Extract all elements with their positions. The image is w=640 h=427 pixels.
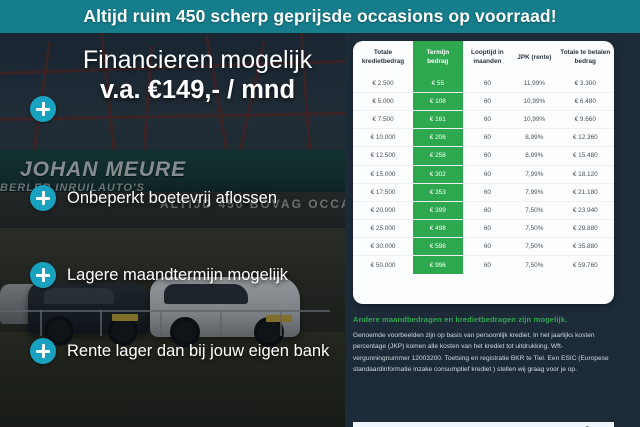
headline-line1: Financieren mogelijk: [60, 45, 335, 75]
plus-icon: [30, 262, 56, 288]
cell-looptijd: 60: [463, 220, 513, 238]
plus-icon: [30, 185, 56, 211]
list-item-label: Onbeperkt boetevrij aflossen: [67, 189, 277, 208]
cell-termijn: € 598: [413, 238, 463, 256]
table-row: € 30.000€ 598607,50%€ 35.880: [353, 238, 614, 256]
cell-termijn: € 108: [413, 92, 463, 110]
advertisement-banner: JOHAN MEURE BERLER INRUILAUTO'S ALTIJD 4…: [0, 0, 640, 427]
table-row: € 7.500€ 1616010,99%€ 9.660: [353, 110, 614, 128]
cell-jkp: 8,99%: [512, 129, 556, 147]
left-content: Financieren mogelijk v.a. €149,- / mnd O…: [0, 33, 345, 427]
cell-looptijd: 60: [463, 110, 513, 128]
cell-looptijd: 60: [463, 165, 513, 183]
list-item-label: Lagere maandtermijn mogelijk: [67, 266, 288, 285]
cell-termijn: € 258: [413, 147, 463, 165]
cell-totaal: € 23.940: [557, 201, 614, 219]
cell-totaal: € 9.660: [557, 110, 614, 128]
table-row: € 10.000€ 206608,99%€ 12.360: [353, 129, 614, 147]
banner-headline: Altijd ruim 450 scherp geprijsde occasio…: [83, 6, 556, 27]
list-item-rente-lager: Rente lager dan bij jouw eigen bank: [30, 338, 329, 364]
table-row: € 15.000€ 302607,99%€ 18.120: [353, 165, 614, 183]
rates-table: Totale kredietbedrag Termijn bedrag Loop…: [353, 41, 614, 274]
table-row: € 20.000€ 399607,50%€ 23.940: [353, 201, 614, 219]
cell-termijn: € 353: [413, 183, 463, 201]
cell-krediet: € 17.500: [353, 183, 413, 201]
cell-krediet: € 25.000: [353, 220, 413, 238]
cell-krediet: € 12.500: [353, 147, 413, 165]
cell-jkp: 7,50%: [512, 201, 556, 219]
table-body: € 2.500€ 556011,99%€ 3.300€ 5.000€ 10860…: [353, 75, 614, 274]
cell-jkp: 11,99%: [512, 75, 556, 93]
top-banner: Altijd ruim 450 scherp geprijsde occasio…: [0, 0, 640, 33]
page-title: Financieren mogelijk v.a. €149,- / mnd: [60, 45, 335, 106]
plus-icon: [30, 96, 56, 122]
cell-looptijd: 60: [463, 238, 513, 256]
column-header-looptijd: Looptijd in maanden: [463, 41, 513, 75]
column-header-jkp: JPK (rente): [512, 41, 556, 75]
cell-totaal: € 29.880: [557, 220, 614, 238]
cell-looptijd: 60: [463, 256, 513, 274]
cell-termijn: € 399: [413, 201, 463, 219]
disclaimer-block: Andere maandbedragen en kredietbedragen …: [353, 315, 614, 375]
cell-looptijd: 60: [463, 92, 513, 110]
cell-krediet: € 15.000: [353, 165, 413, 183]
right-panel: Totale kredietbedrag Termijn bedrag Loop…: [345, 33, 622, 427]
column-header-totaal: Totale te betalen bedrag: [557, 41, 614, 75]
cell-totaal: € 35.880: [557, 238, 614, 256]
cell-krediet: € 2.500: [353, 75, 413, 93]
credit-warning-bar: Let op! Geld lenen kost geld: [353, 422, 614, 427]
cell-krediet: € 30.000: [353, 238, 413, 256]
table-header-row: Totale kredietbedrag Termijn bedrag Loop…: [353, 41, 614, 75]
cell-looptijd: 60: [463, 201, 513, 219]
table-row: € 12.500€ 258608,99%€ 15.480: [353, 147, 614, 165]
cell-termijn: € 302: [413, 165, 463, 183]
table-row: € 17.500€ 353607,99%€ 21.180: [353, 183, 614, 201]
column-header-termijn: Termijn bedrag: [413, 41, 463, 75]
cell-totaal: € 6.480: [557, 92, 614, 110]
column-header-krediet: Totale kredietbedrag: [353, 41, 413, 75]
cell-totaal: € 59.760: [557, 256, 614, 274]
cell-krediet: € 20.000: [353, 201, 413, 219]
rates-table-card: Totale kredietbedrag Termijn bedrag Loop…: [353, 41, 614, 304]
cell-termijn: € 498: [413, 220, 463, 238]
disclaimer-title: Andere maandbedragen en kredietbedragen …: [353, 315, 614, 324]
cell-krediet: € 7.500: [353, 110, 413, 128]
cell-jkp: 7,50%: [512, 238, 556, 256]
cell-looptijd: 60: [463, 147, 513, 165]
cell-krediet: € 10.000: [353, 129, 413, 147]
cell-termijn: € 996: [413, 256, 463, 274]
cell-termijn: € 55: [413, 75, 463, 93]
table-row: € 5.000€ 1086010,99%€ 6.480: [353, 92, 614, 110]
cell-jkp: 10,99%: [512, 110, 556, 128]
cell-looptijd: 60: [463, 183, 513, 201]
cell-jkp: 7,50%: [512, 256, 556, 274]
cell-krediet: € 5.000: [353, 92, 413, 110]
cell-jkp: 8,99%: [512, 147, 556, 165]
table-row: € 2.500€ 556011,99%€ 3.300: [353, 75, 614, 93]
headline-line2: v.a. €149,- / mnd: [60, 75, 335, 106]
table-row: € 50.000€ 996607,50%€ 59.760: [353, 256, 614, 274]
list-item-onbeperkt-aflossen: Onbeperkt boetevrij aflossen: [30, 185, 277, 211]
cell-totaal: € 15.480: [557, 147, 614, 165]
cell-totaal: € 21.180: [557, 183, 614, 201]
disclaimer-body: Genoemde voorbeelden zijn op basis van p…: [353, 330, 614, 375]
cell-jkp: 7,99%: [512, 183, 556, 201]
cell-totaal: € 3.300: [557, 75, 614, 93]
cell-termijn: € 206: [413, 129, 463, 147]
cell-totaal: € 18.120: [557, 165, 614, 183]
list-item-lagere-maandtermijn: Lagere maandtermijn mogelijk: [30, 262, 288, 288]
cell-krediet: € 50.000: [353, 256, 413, 274]
bullet-headline-marker: [30, 96, 56, 122]
cell-looptijd: 60: [463, 75, 513, 93]
cell-looptijd: 60: [463, 129, 513, 147]
list-item-label: Rente lager dan bij jouw eigen bank: [67, 342, 329, 361]
cell-totaal: € 12.360: [557, 129, 614, 147]
plus-icon: [30, 338, 56, 364]
cell-termijn: € 161: [413, 110, 463, 128]
cell-jkp: 7,99%: [512, 165, 556, 183]
table-row: € 25.000€ 498607,50%€ 29.880: [353, 220, 614, 238]
cell-jkp: 10,99%: [512, 92, 556, 110]
cell-jkp: 7,50%: [512, 220, 556, 238]
